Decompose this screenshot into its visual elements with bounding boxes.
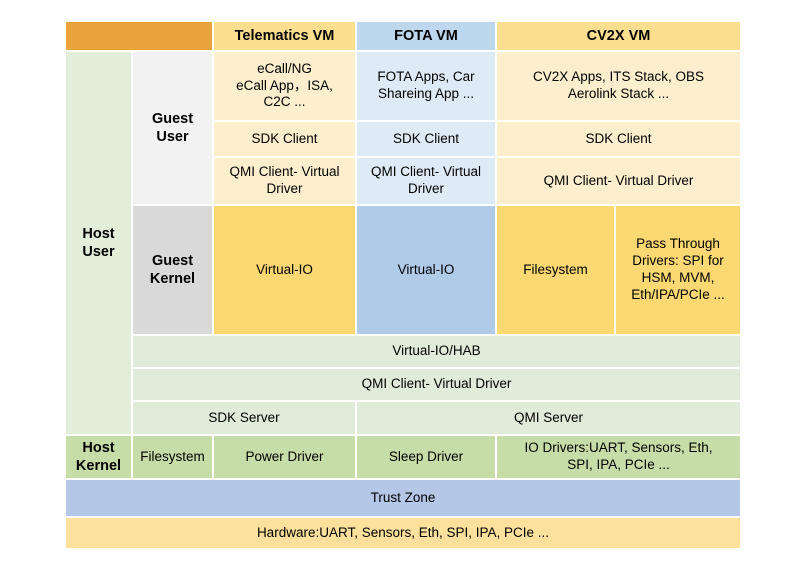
row-label-guest-user: Guest User [133, 52, 212, 204]
host-user-qmi-client-virtual-driver: QMI Client- Virtual Driver [133, 369, 740, 400]
row-label-guest-kernel: Guest Kernel [133, 206, 212, 334]
guest-user-fota-qmi-client: QMI Client- Virtual Driver [357, 158, 495, 204]
trust-zone-bar: Trust Zone [66, 480, 740, 516]
guest-kernel-telematics-virtual-io: Virtual-IO [214, 206, 355, 334]
host-user-qmi-server: QMI Server [357, 402, 740, 434]
host-kernel-filesystem: Filesystem [133, 436, 212, 478]
header-corner-blank [66, 22, 212, 50]
architecture-diagram: Telematics VM FOTA VM CV2X VM Host User … [66, 22, 740, 548]
row-label-host-user: Host User [66, 52, 131, 434]
guest-user-cv2x-sdk-client: SDK Client [497, 122, 740, 156]
guest-user-cv2x-apps: CV2X Apps, ITS Stack, OBS Aerolink Stack… [497, 52, 740, 120]
guest-user-fota-sdk-client: SDK Client [357, 122, 495, 156]
header-fota-vm: FOTA VM [357, 22, 495, 50]
hardware-bar: Hardware:UART, Sensors, Eth, SPI, IPA, P… [66, 518, 740, 548]
guest-kernel-cv2x-pass-through-drivers: Pass Through Drivers: SPI for HSM, MVM, … [616, 206, 740, 334]
guest-kernel-cv2x-filesystem: Filesystem [497, 206, 614, 334]
host-user-sdk-server: SDK Server [133, 402, 355, 434]
guest-user-telematics-apps: eCall/NG eCall App，ISA, C2C ... [214, 52, 355, 120]
host-user-virtual-io-hab: Virtual-IO/HAB [133, 336, 740, 367]
guest-kernel-fota-virtual-io: Virtual-IO [357, 206, 495, 334]
guest-user-cv2x-qmi-client: QMI Client- Virtual Driver [497, 158, 740, 204]
row-label-host-kernel: Host Kernel [66, 436, 131, 478]
header-telematics-vm: Telematics VM [214, 22, 355, 50]
header-cv2x-vm: CV2X VM [497, 22, 740, 50]
guest-user-fota-apps: FOTA Apps, Car Shareing App ... [357, 52, 495, 120]
host-kernel-io-drivers: IO Drivers:UART, Sensors, Eth, SPI, IPA,… [497, 436, 740, 478]
host-kernel-sleep-driver: Sleep Driver [357, 436, 495, 478]
host-kernel-power-driver: Power Driver [214, 436, 355, 478]
guest-user-telematics-sdk-client: SDK Client [214, 122, 355, 156]
guest-user-telematics-qmi-client: QMI Client- Virtual Driver [214, 158, 355, 204]
